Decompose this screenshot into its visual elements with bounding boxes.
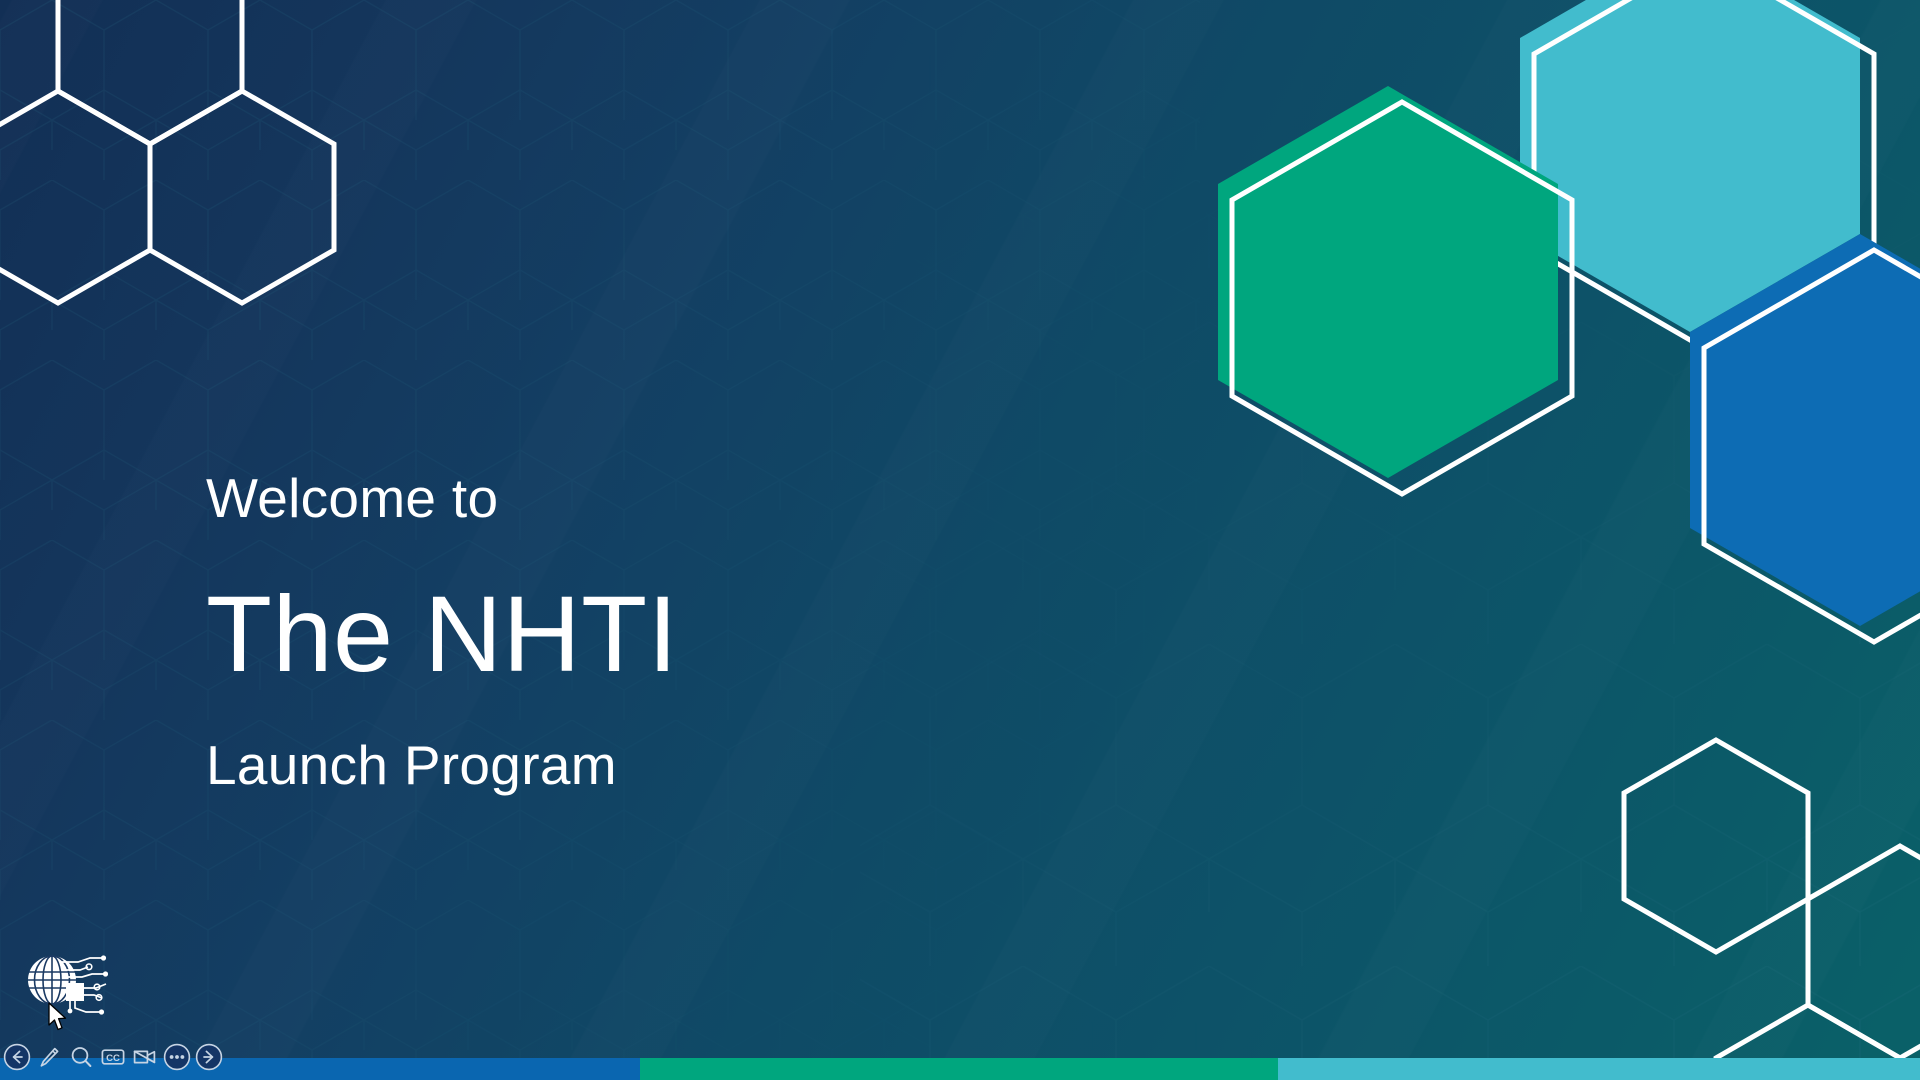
welcome-line: Welcome to bbox=[206, 470, 678, 528]
circuit-chip bbox=[66, 983, 84, 1001]
pen-tool-button[interactable] bbox=[34, 1042, 64, 1072]
camera-toggle-button[interactable] bbox=[130, 1042, 160, 1072]
bar-segment-cyan bbox=[1278, 1058, 1920, 1080]
svg-text:CC: CC bbox=[106, 1053, 120, 1064]
closed-captions-button[interactable]: CC bbox=[98, 1042, 128, 1072]
presentation-slide: Welcome to The NHTI Launch Program bbox=[0, 0, 1920, 1080]
more-options-button[interactable] bbox=[162, 1042, 192, 1072]
slide-text-block: Welcome to The NHTI Launch Program bbox=[206, 470, 678, 795]
presenter-toolbar: CC bbox=[0, 1042, 226, 1072]
globe-network-logo bbox=[20, 950, 108, 1020]
next-slide-button[interactable] bbox=[194, 1042, 224, 1072]
zoom-tool-button[interactable] bbox=[66, 1042, 96, 1072]
bar-segment-green bbox=[640, 1058, 1278, 1080]
slide-subtitle: Launch Program bbox=[206, 737, 678, 795]
page-title: The NHTI bbox=[206, 570, 678, 697]
bottom-color-bar bbox=[0, 1058, 1920, 1080]
previous-slide-button[interactable] bbox=[2, 1042, 32, 1072]
